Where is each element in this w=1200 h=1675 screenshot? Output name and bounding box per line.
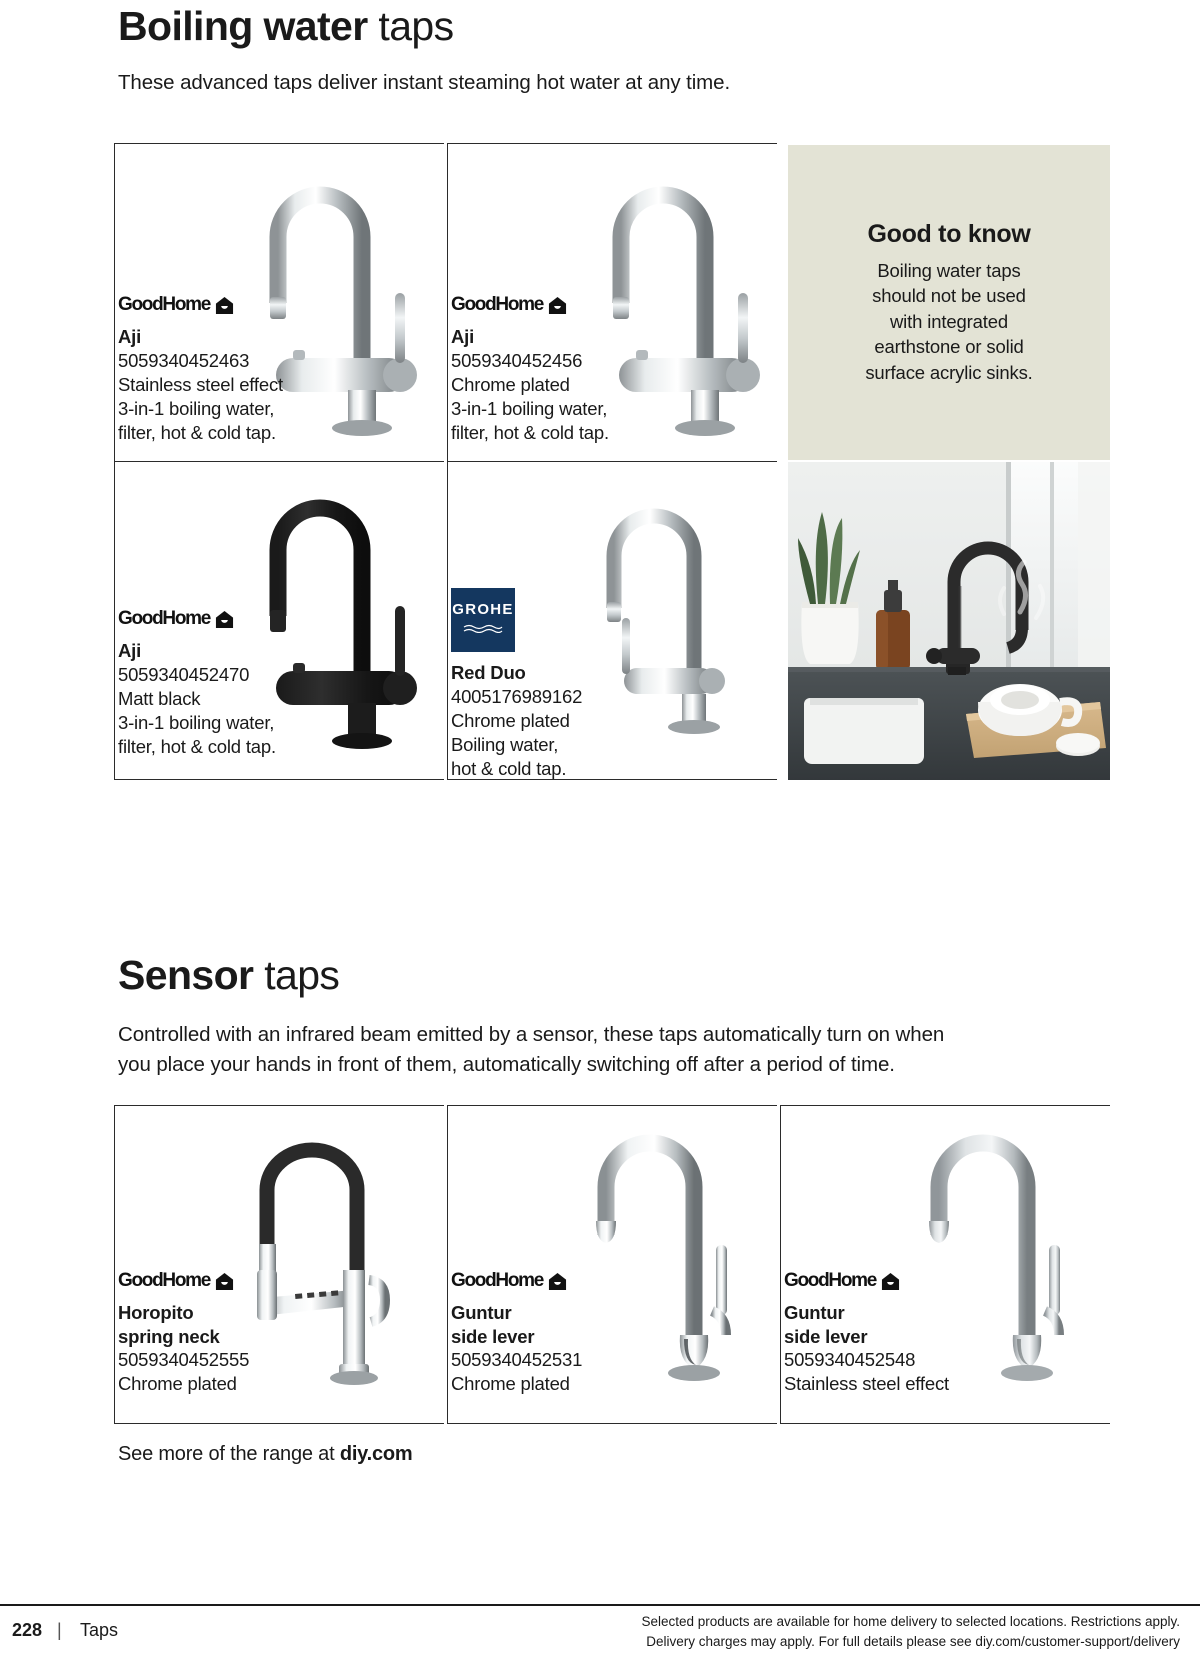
- grid-rule-top-left: [114, 143, 444, 144]
- product-description-line2: filter, hot & cold tap.: [118, 735, 276, 759]
- brand-name-text: GoodHome: [784, 1270, 876, 1292]
- section-title-bold: Sensor: [118, 952, 253, 998]
- legal-disclaimer: Selected products are available for home…: [440, 1612, 1180, 1653]
- product-code: 5059340452555: [118, 1348, 249, 1372]
- tap-image-guntur-chrome: [576, 1125, 756, 1400]
- sensor-grid-rule-top-2: [447, 1105, 777, 1106]
- product-name-line2: side lever: [451, 1325, 582, 1349]
- sensor-grid-rule-top-3: [780, 1105, 1110, 1106]
- sensor-section-description: Controlled with an infrared beam emitted…: [118, 1020, 1128, 1079]
- goodhome-house-icon: [548, 296, 567, 315]
- product-finish: Chrome plated: [451, 1372, 582, 1396]
- brand-name-text: GoodHome: [451, 1270, 543, 1292]
- product-finish: Stainless steel effect: [118, 373, 283, 397]
- goodhome-house-icon: [215, 296, 234, 315]
- brand-logo-goodhome: GoodHome: [118, 608, 276, 630]
- goodhome-house-icon: [215, 610, 234, 629]
- see-more-prefix: See more of the range at: [118, 1443, 340, 1465]
- brand-name-text: GoodHome: [118, 294, 210, 316]
- product-name: Aji: [118, 639, 276, 663]
- product-finish: Chrome plated: [451, 709, 582, 733]
- section-title-light: taps: [264, 952, 339, 998]
- product-code: 5059340452456: [451, 349, 609, 373]
- catalog-page: Boiling water taps These advanced taps d…: [0, 0, 1200, 1675]
- sensor-grid-vrule-2: [447, 1105, 448, 1423]
- goodhome-house-icon: [215, 1272, 234, 1291]
- product-code: 5059340452470: [118, 663, 276, 687]
- see-more-link[interactable]: diy.com: [340, 1443, 413, 1465]
- sensor-grid-rule-bot-3: [780, 1423, 1110, 1424]
- page-number: 228: [12, 1620, 42, 1641]
- tap-image-horopito-spring-neck: [243, 1120, 423, 1395]
- product-name: Red Duo: [451, 661, 582, 685]
- grohe-wave-icon: [463, 620, 503, 638]
- sensor-grid-rule-bot-2: [447, 1423, 777, 1424]
- brand-logo-goodhome: GoodHome: [784, 1270, 949, 1292]
- good-to-know-line1: Boiling water taps: [877, 258, 1020, 284]
- grid-vrule-mid-2: [447, 461, 448, 779]
- brand-logo-goodhome: GoodHome: [118, 294, 283, 316]
- kitchen-scene-illustration: [788, 462, 1110, 780]
- page-separator: |: [57, 1620, 62, 1641]
- see-more-line[interactable]: See more of the range at diy.com: [118, 1443, 413, 1466]
- product-name: Aji: [451, 325, 609, 349]
- sensor-grid-vrule-3: [780, 1105, 781, 1423]
- grid-rule-mid-left: [114, 461, 444, 462]
- legal-line1: Selected products are available for home…: [440, 1612, 1180, 1632]
- goodhome-house-icon: [548, 1272, 567, 1291]
- tap-image-grohe-red-duo: [586, 498, 776, 763]
- product-name-line1: Guntur: [451, 1301, 582, 1325]
- product-code: 4005176989162: [451, 685, 582, 709]
- good-to-know-panel: Good to know Boiling water taps should n…: [788, 145, 1110, 460]
- tap-image-aji-chrome: [591, 185, 781, 450]
- product-description-line2: filter, hot & cold tap.: [451, 421, 609, 445]
- section-title-light: taps: [378, 3, 453, 49]
- good-to-know-line2: should not be used: [872, 283, 1026, 309]
- goodhome-house-icon: [881, 1272, 900, 1291]
- grid-vrule-left-1: [114, 143, 115, 461]
- product-finish: Matt black: [118, 687, 276, 711]
- brand-logo-goodhome: GoodHome: [118, 1270, 249, 1292]
- product-code: 5059340452531: [451, 1348, 582, 1372]
- product-name-line2: spring neck: [118, 1325, 249, 1349]
- product-name-line1: Horopito: [118, 1301, 249, 1325]
- product-finish: Stainless steel effect: [784, 1372, 949, 1396]
- product-description-line2: filter, hot & cold tap.: [118, 421, 283, 445]
- sensor-grid-rule-bot-1: [114, 1423, 444, 1424]
- product-code: 5059340452548: [784, 1348, 949, 1372]
- product-card-guntur-chrome[interactable]: GoodHome Guntur side lever 5059340452531…: [451, 1120, 771, 1415]
- boiling-water-section-title: Boiling water taps: [118, 6, 454, 47]
- legal-line2: Delivery charges may apply. For full det…: [440, 1632, 1180, 1652]
- lifestyle-kitchen-photo: [788, 462, 1110, 780]
- product-card-horopito-spring-neck[interactable]: GoodHome Horopito spring neck 5059340452…: [118, 1120, 438, 1415]
- product-card-aji-stainless[interactable]: GoodHome Aji 5059340452463 Stainless ste…: [118, 160, 438, 450]
- brand-name-text: GoodHome: [451, 294, 543, 316]
- good-to-know-line5: surface acrylic sinks.: [865, 360, 1032, 386]
- page-section-label: Taps: [80, 1620, 118, 1641]
- section-title-bold: Boiling water: [118, 3, 368, 49]
- brand-logo-grohe: GROHE: [451, 588, 515, 652]
- product-card-guntur-stainless[interactable]: GoodHome Guntur side lever 5059340452548…: [784, 1120, 1104, 1415]
- product-name: Aji: [118, 325, 283, 349]
- footer-divider: [0, 1604, 1200, 1606]
- product-code: 5059340452463: [118, 349, 283, 373]
- sensor-grid-vrule-1: [114, 1105, 115, 1423]
- brand-logo-goodhome: GoodHome: [451, 294, 609, 316]
- grohe-wordmark: GROHE: [452, 602, 514, 617]
- boiling-water-section-description: These advanced taps deliver instant stea…: [118, 68, 1018, 98]
- grid-rule-top-mid: [447, 143, 777, 144]
- product-description-line1: 3-in-1 boiling water,: [118, 397, 283, 421]
- sensor-grid-rule-top-1: [114, 1105, 444, 1106]
- sensor-description-line1: Controlled with an infrared beam emitted…: [118, 1020, 1128, 1050]
- product-description-line1: 3-in-1 boiling water,: [451, 397, 609, 421]
- brand-name-text: GoodHome: [118, 608, 210, 630]
- product-description-line2: hot & cold tap.: [451, 757, 582, 781]
- product-finish: Chrome plated: [451, 373, 609, 397]
- grid-vrule-mid-1: [447, 143, 448, 461]
- tap-image-aji-matt-black: [248, 498, 438, 763]
- brand-logo-goodhome: GoodHome: [451, 1270, 582, 1292]
- sensor-description-line2: you place your hands in front of them, a…: [118, 1050, 1128, 1080]
- grid-vrule-left-2: [114, 461, 115, 779]
- good-to-know-heading: Good to know: [867, 220, 1030, 249]
- good-to-know-line4: earthstone or solid: [874, 334, 1023, 360]
- product-name-line1: Guntur: [784, 1301, 949, 1325]
- product-name-line2: side lever: [784, 1325, 949, 1349]
- product-card-aji-matt-black[interactable]: GoodHome Aji 5059340452470 Matt black 3-…: [118, 478, 438, 768]
- product-card-aji-chrome[interactable]: GoodHome Aji 5059340452456 Chrome plated…: [451, 160, 771, 450]
- good-to-know-line3: with integrated: [890, 309, 1008, 335]
- product-finish: Chrome plated: [118, 1372, 249, 1396]
- sensor-section-title: Sensor taps: [118, 955, 339, 996]
- product-description-line1: 3-in-1 boiling water,: [118, 711, 276, 735]
- product-description-line1: Boiling water,: [451, 733, 582, 757]
- grid-rule-bot-left: [114, 779, 444, 780]
- product-card-grohe-red-duo[interactable]: GROHE Red Duo 4005176989162 Chrome plate…: [451, 478, 771, 768]
- brand-name-text: GoodHome: [118, 1270, 210, 1292]
- grid-rule-mid-mid: [447, 461, 777, 462]
